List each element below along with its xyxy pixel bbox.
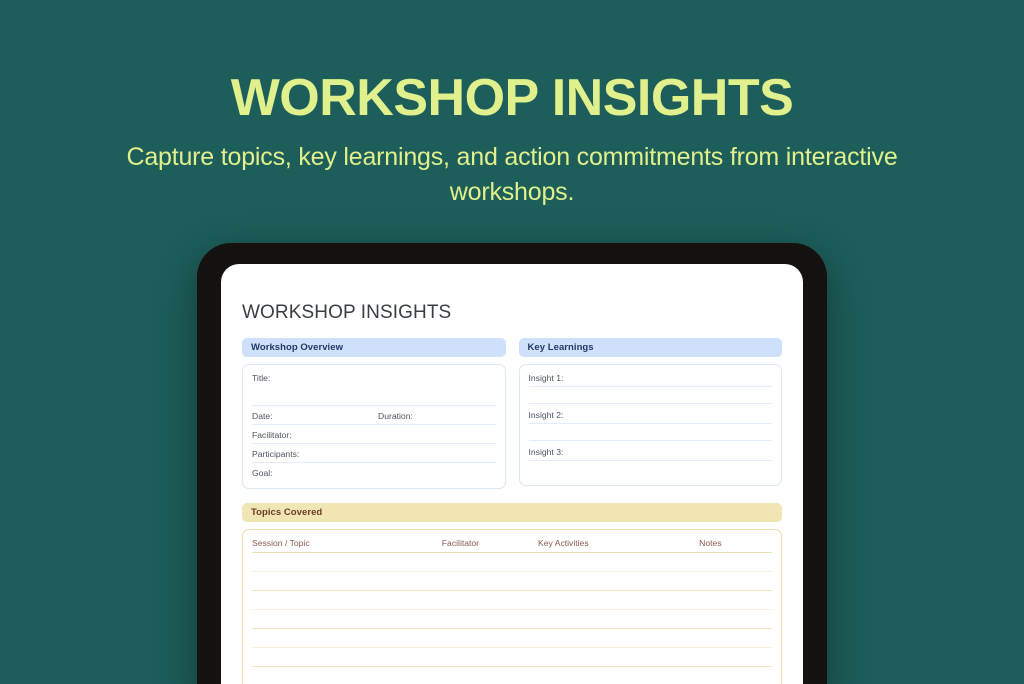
key-learnings-band: Key Learnings	[519, 338, 783, 357]
topics-covered-section: Topics Covered Session / Topic Facilitat…	[242, 503, 782, 684]
table-cell[interactable]	[252, 591, 442, 610]
insight-1-writing-area[interactable]	[529, 387, 773, 404]
table-row[interactable]	[252, 667, 772, 684]
table-cell[interactable]	[538, 629, 699, 648]
topics-table[interactable]: Session / Topic Facilitator Key Activiti…	[252, 538, 772, 684]
insight-2-label: Insight 2:	[529, 410, 773, 424]
key-learnings-card[interactable]: Insight 1: Insight 2: Insight 3:	[519, 364, 783, 486]
tablet-screen: WORKSHOP INSIGHTS Workshop Overview Titl…	[221, 264, 803, 684]
top-sections-row: Workshop Overview Title: Date: Duration:	[242, 338, 782, 489]
topics-covered-card[interactable]: Session / Topic Facilitator Key Activiti…	[242, 529, 782, 684]
document-title: WORKSHOP INSIGHTS	[242, 302, 782, 324]
column-header-key-activities: Key Activities	[538, 538, 699, 553]
column-header-notes: Notes	[699, 538, 772, 553]
table-cell[interactable]	[442, 553, 538, 572]
column-header-facilitator: Facilitator	[442, 538, 538, 553]
field-participants[interactable]: Participants:	[252, 449, 496, 463]
hero-section: WORKSHOP INSIGHTS Capture topics, key le…	[0, 0, 1024, 209]
table-cell[interactable]	[252, 629, 442, 648]
table-cell[interactable]	[252, 667, 442, 684]
table-cell[interactable]	[699, 629, 772, 648]
field-facilitator[interactable]: Facilitator:	[252, 430, 496, 444]
topics-covered-band: Topics Covered	[242, 503, 782, 522]
table-cell[interactable]	[538, 553, 699, 572]
table-row[interactable]	[252, 648, 772, 667]
topics-table-header-row: Session / Topic Facilitator Key Activiti…	[252, 538, 772, 553]
table-cell[interactable]	[699, 610, 772, 629]
table-cell[interactable]	[538, 610, 699, 629]
table-cell[interactable]	[442, 591, 538, 610]
table-cell[interactable]	[252, 610, 442, 629]
page-title: WORKSHOP INSIGHTS	[0, 72, 1024, 124]
insight-2-writing-area[interactable]	[529, 424, 773, 441]
table-cell[interactable]	[442, 572, 538, 591]
table-row[interactable]	[252, 572, 772, 591]
table-row[interactable]	[252, 591, 772, 610]
table-cell[interactable]	[252, 553, 442, 572]
table-cell[interactable]	[252, 648, 442, 667]
table-cell[interactable]	[538, 667, 699, 684]
field-duration-label: Duration:	[378, 411, 413, 421]
insight-3-label: Insight 3:	[529, 447, 773, 461]
topics-table-body[interactable]	[252, 553, 772, 684]
column-header-session-topic: Session / Topic	[252, 538, 442, 553]
workshop-overview-section: Workshop Overview Title: Date: Duration:	[242, 338, 506, 489]
workshop-overview-band: Workshop Overview	[242, 338, 506, 357]
tablet-device-frame: WORKSHOP INSIGHTS Workshop Overview Titl…	[197, 243, 827, 684]
page-subtitle: Capture topics, key learnings, and actio…	[112, 140, 912, 209]
insight-1-label: Insight 1:	[529, 373, 773, 387]
table-cell[interactable]	[699, 667, 772, 684]
field-date-label: Date:	[252, 411, 378, 421]
field-participants-label: Participants:	[252, 449, 299, 459]
key-learnings-section: Key Learnings Insight 1: Insight 2: Insi…	[519, 338, 783, 489]
workshop-overview-card[interactable]: Title: Date: Duration: Facilitator:	[242, 364, 506, 489]
field-title-label: Title:	[252, 373, 270, 383]
table-cell[interactable]	[699, 648, 772, 667]
table-cell[interactable]	[538, 648, 699, 667]
field-facilitator-label: Facilitator:	[252, 430, 292, 440]
table-cell[interactable]	[538, 591, 699, 610]
table-row[interactable]	[252, 629, 772, 648]
table-cell[interactable]	[699, 572, 772, 591]
table-cell[interactable]	[538, 572, 699, 591]
table-row[interactable]	[252, 610, 772, 629]
field-goal[interactable]: Goal:	[252, 468, 496, 481]
table-cell[interactable]	[699, 553, 772, 572]
field-title[interactable]: Title:	[252, 373, 496, 406]
insight-3-writing-area[interactable]	[529, 461, 773, 478]
table-cell[interactable]	[699, 591, 772, 610]
table-cell[interactable]	[442, 610, 538, 629]
table-cell[interactable]	[442, 667, 538, 684]
topics-table-head: Session / Topic Facilitator Key Activiti…	[252, 538, 772, 553]
table-cell[interactable]	[252, 572, 442, 591]
table-row[interactable]	[252, 553, 772, 572]
field-goal-label: Goal:	[252, 468, 273, 478]
table-cell[interactable]	[442, 648, 538, 667]
document-page: WORKSHOP INSIGHTS Workshop Overview Titl…	[221, 264, 803, 684]
field-date-duration[interactable]: Date: Duration:	[252, 411, 496, 425]
table-cell[interactable]	[442, 629, 538, 648]
